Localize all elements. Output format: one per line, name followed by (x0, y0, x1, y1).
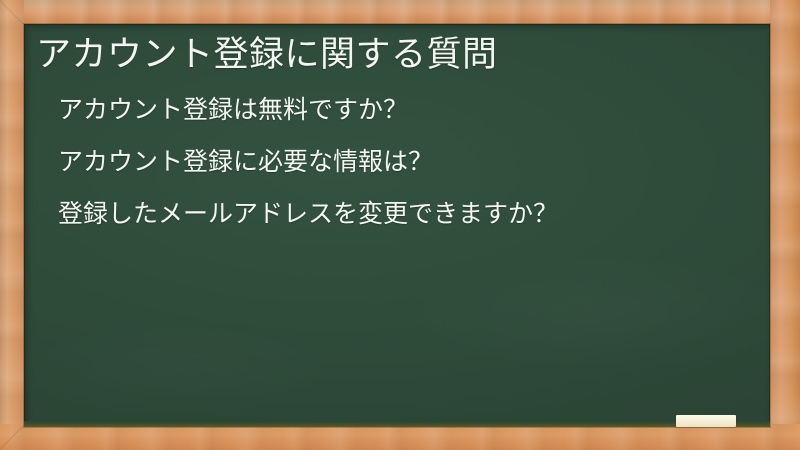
chalkboard-content: アカウント登録に関する質問 アカウント登録は無料ですか？ アカウント登録に必要な… (24, 24, 770, 427)
chalkboard-bottom-lip (24, 421, 770, 427)
list-item: 登録したメールアドレスを変更できますか？ (58, 202, 558, 227)
frame-rail-right (770, 0, 800, 450)
frame-miter-top-left (0, 0, 24, 25)
frame-miter-bottom-left (0, 424, 25, 450)
chalkboard-surface: アカウント登録に関する質問 アカウント登録は無料ですか？ アカウント登録に必要な… (24, 24, 770, 427)
frame-rail-bottom (0, 424, 800, 450)
blackboard-frame: アカウント登録に関する質問 アカウント登録は無料ですか？ アカウント登録に必要な… (0, 0, 800, 450)
frame-rail-left (0, 0, 24, 450)
question-list: アカウント登録は無料ですか？ アカウント登録に必要な情報は？ 登録したメールアド… (58, 98, 558, 227)
page-title: アカウント登録に関する質問 (36, 33, 498, 78)
list-item: アカウント登録は無料ですか？ (58, 98, 558, 123)
frame-rail-top (0, 0, 800, 24)
list-item: アカウント登録に必要な情報は？ (58, 150, 558, 175)
chalk-stick-icon (676, 415, 736, 427)
